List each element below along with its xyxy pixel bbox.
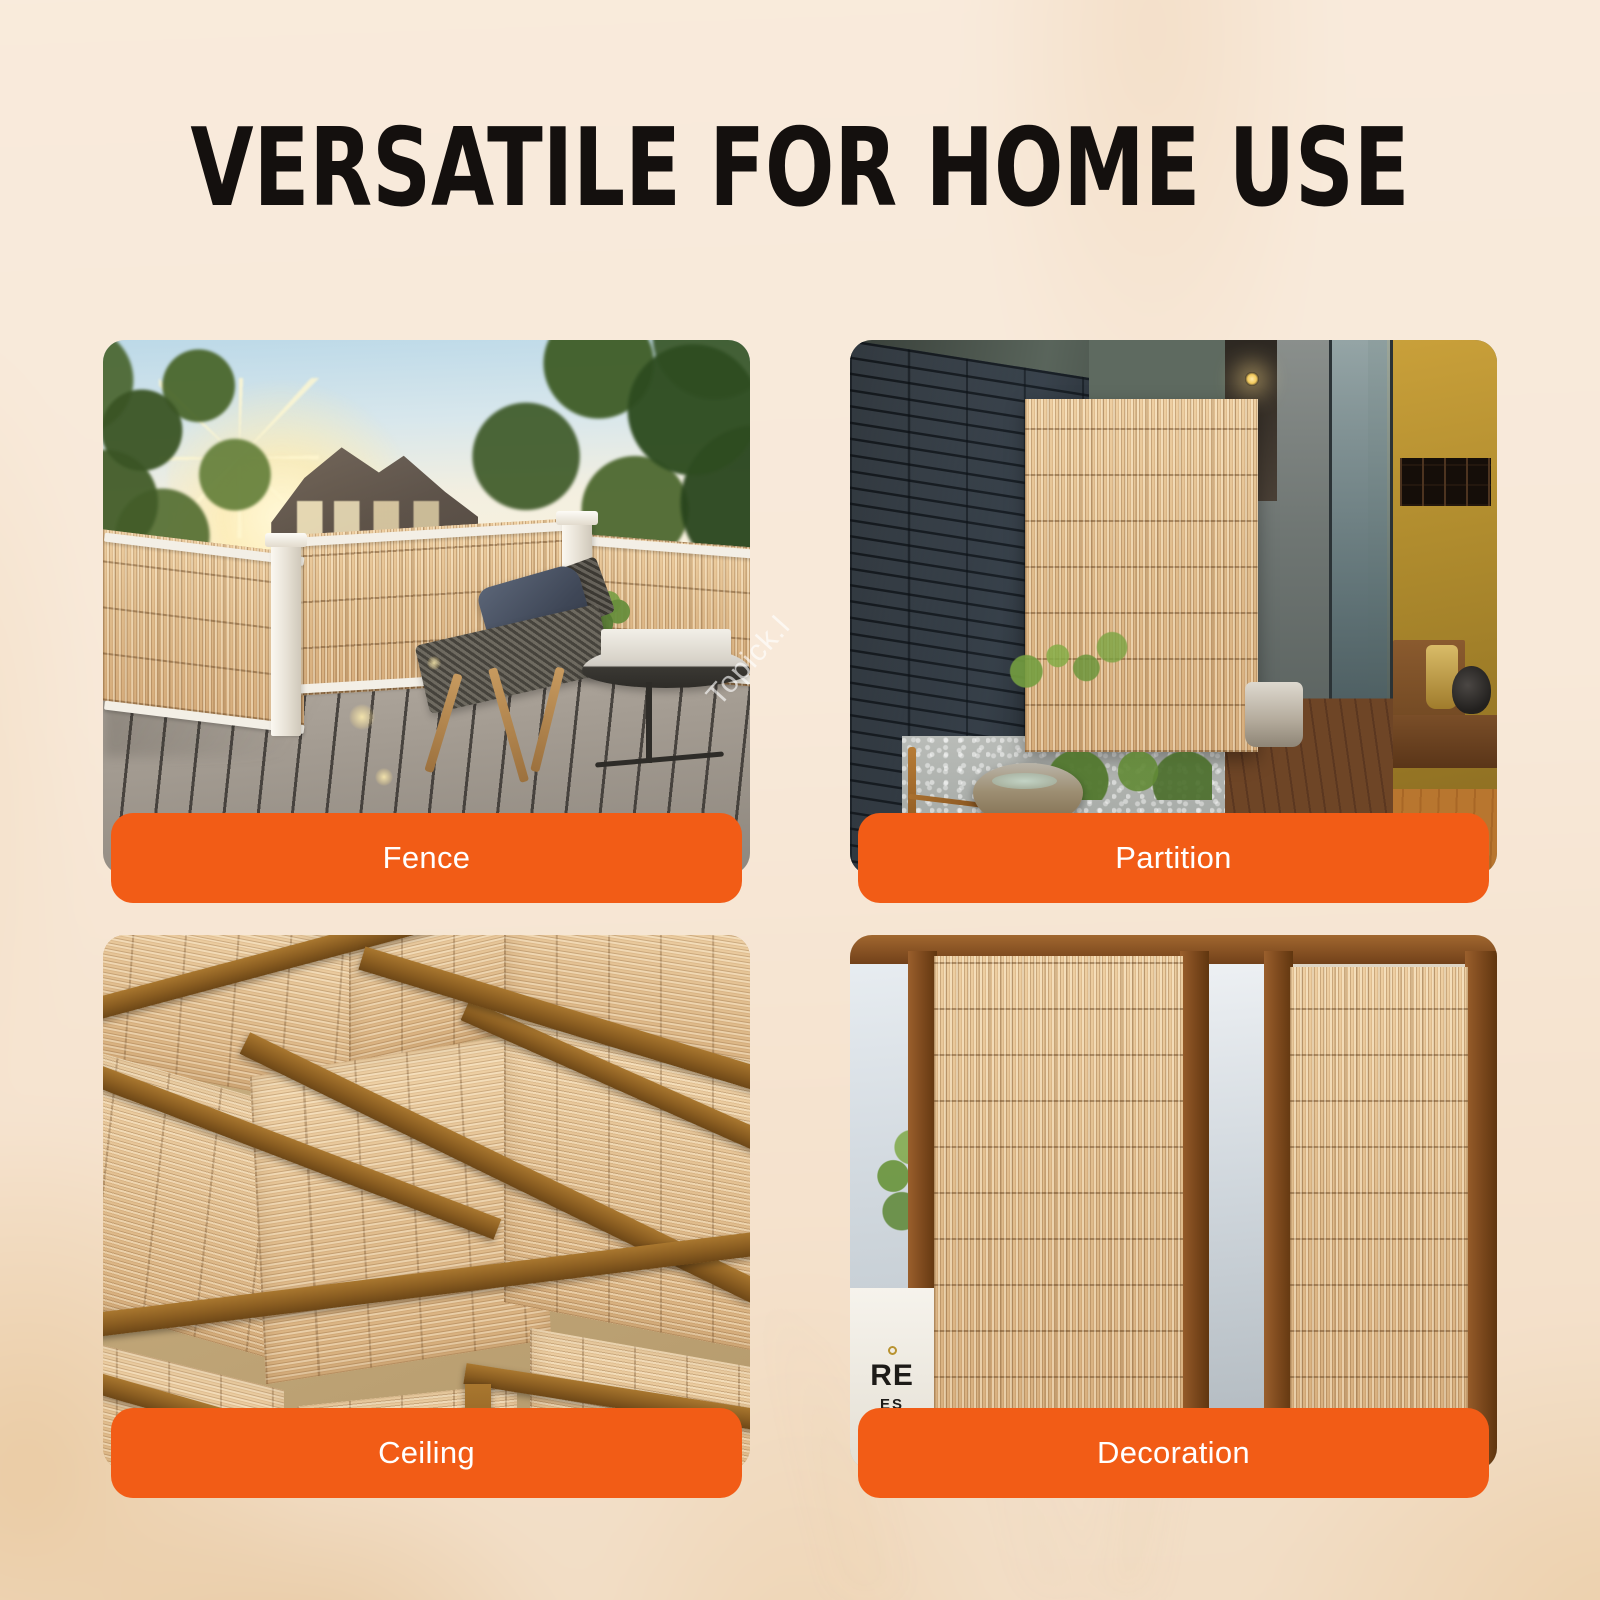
- frame-post-3: [1264, 951, 1293, 1470]
- use-case-card-decoration[interactable]: RE ES Decoration: [850, 935, 1497, 1470]
- page-title: VERSATILE FOR HOME USE: [128, 112, 1472, 226]
- use-case-grid: Fence: [103, 340, 1497, 1490]
- ceiling-photo: [103, 935, 750, 1470]
- card-label-ceiling[interactable]: Ceiling: [111, 1408, 742, 1498]
- use-case-card-partition[interactable]: Partition: [850, 340, 1497, 875]
- fence-post-left: [271, 543, 301, 736]
- lens-flare-3: [427, 656, 441, 670]
- use-case-card-ceiling[interactable]: Ceiling: [103, 935, 750, 1470]
- card-label-text: Partition: [1115, 840, 1231, 876]
- card-label-fence[interactable]: Fence: [111, 813, 742, 903]
- maple-branch: [992, 618, 1134, 704]
- reed-screen-panel-right: [1290, 967, 1468, 1470]
- wall-shelf: [1400, 458, 1491, 506]
- table-tray: [601, 629, 730, 661]
- low-table: [1387, 715, 1497, 769]
- lens-flare-1: [349, 704, 375, 730]
- card-label-text: Fence: [383, 840, 471, 876]
- promo-page: VERSATILE FOR HOME USE: [0, 0, 1600, 1600]
- sign-logo-icon: [888, 1346, 897, 1355]
- side-table-stem: [646, 682, 652, 762]
- fence-post-cap-left: [265, 533, 307, 547]
- use-case-card-fence[interactable]: Fence: [103, 340, 750, 875]
- iron-kettle: [1452, 666, 1491, 714]
- decoration-photo: RE ES: [850, 935, 1497, 1470]
- partition-photo: [850, 340, 1497, 875]
- sign-line-1: RE: [870, 1359, 914, 1393]
- card-label-text: Decoration: [1097, 1435, 1250, 1471]
- ceiling-lamp-icon: [1245, 372, 1259, 386]
- fence-post-cap-right: [556, 511, 598, 525]
- frame-post-2: [1180, 951, 1209, 1470]
- frame-post-4: [1465, 951, 1497, 1470]
- reed-screen-panel-left: [934, 956, 1183, 1470]
- card-label-partition[interactable]: Partition: [858, 813, 1489, 903]
- lens-flare-2: [375, 768, 393, 786]
- fence-photo: [103, 340, 750, 875]
- card-label-text: Ceiling: [378, 1435, 475, 1471]
- card-label-decoration[interactable]: Decoration: [858, 1408, 1489, 1498]
- stone-planter: [1245, 682, 1303, 746]
